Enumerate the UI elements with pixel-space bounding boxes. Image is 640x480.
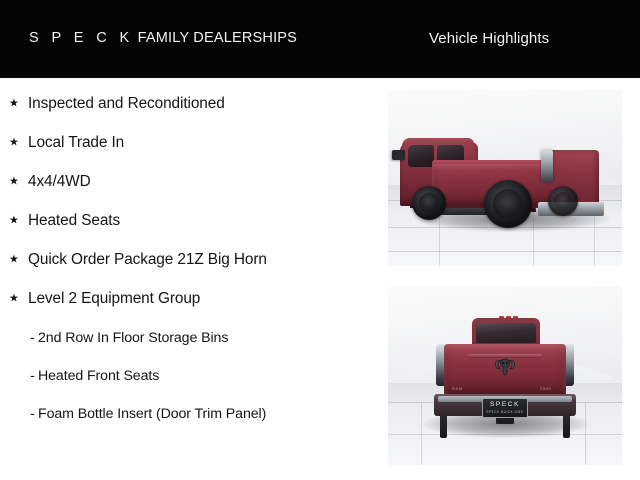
tailgate-badge-left: RAM [452, 386, 463, 391]
feature-label: Heated Front Seats [38, 368, 159, 384]
far-side-wheel [548, 186, 578, 216]
dash-icon: - [30, 406, 35, 422]
page-title: Vehicle Highlights [429, 30, 549, 47]
feature-item: ★Heated Seats [0, 209, 382, 233]
plate-dealer-subtext: SPECK BUICK GMC [486, 411, 523, 414]
star-icon: ★ [9, 216, 19, 227]
floor-tile-line [585, 402, 586, 465]
feature-label: 4x4/4WD [28, 173, 91, 191]
dealer-license-plate: SPECK SPECK BUICK GMC [482, 398, 528, 418]
rear-wheel [484, 180, 532, 228]
brand-primary-text: S P E C K [29, 30, 134, 46]
dealership-brand: S P E C K FAMILY DEALERSHIPS [29, 30, 297, 46]
star-icon: ★ [9, 138, 19, 149]
front-wheel [412, 186, 446, 220]
plate-dealer-name: SPECK [490, 402, 520, 409]
feature-item: ★Level 2 Equipment Group [0, 287, 382, 311]
feature-item: ★Quick Order Package 21Z Big Horn [0, 248, 382, 272]
feature-item: ★Local Trade In [0, 131, 382, 155]
feature-label: Level 2 Equipment Group [28, 290, 200, 308]
star-icon: ★ [9, 255, 19, 266]
feature-label: Foam Bottle Insert (Door Trim Panel) [38, 406, 266, 422]
vehicle-photo-rear-straight[interactable]: RAM 2500 SPECK SPECK BUICK GMC [388, 286, 622, 465]
ram-head-emblem [492, 356, 518, 378]
feature-sub-item: -Foam Bottle Insert (Door Trim Panel) [0, 402, 382, 426]
vehicle-photo-rear-three-quarter[interactable] [388, 90, 622, 266]
tail-light [541, 150, 553, 182]
feature-label: Heated Seats [28, 212, 120, 230]
floor-tile-line [388, 251, 622, 252]
tow-mirror [392, 150, 405, 160]
page-header: S P E C K FAMILY DEALERSHIPS Vehicle Hig… [0, 0, 640, 78]
brand-secondary-text: FAMILY DEALERSHIPS [138, 30, 297, 46]
feature-sub-item: -Heated Front Seats [0, 364, 382, 388]
feature-label: Local Trade In [28, 134, 124, 152]
dash-icon: - [30, 368, 35, 384]
rear-window [476, 323, 536, 343]
feature-item: ★Inspected and Reconditioned [0, 92, 382, 116]
door-window [408, 145, 434, 167]
feature-item: ★4x4/4WD [0, 170, 382, 194]
feature-label: Quick Order Package 21Z Big Horn [28, 251, 267, 269]
floor-tile-line [421, 402, 422, 465]
tailgate-badge-right: 2500 [540, 386, 551, 391]
feature-label: 2nd Row In Floor Storage Bins [38, 330, 228, 346]
feature-sub-item: -2nd Row In Floor Storage Bins [0, 326, 382, 350]
dash-icon: - [30, 330, 35, 346]
feature-label: Inspected and Reconditioned [28, 95, 225, 113]
star-icon: ★ [9, 177, 19, 188]
star-icon: ★ [9, 99, 19, 110]
vehicle-feature-list: ★Inspected and Reconditioned★Local Trade… [0, 86, 382, 476]
star-icon: ★ [9, 294, 19, 305]
